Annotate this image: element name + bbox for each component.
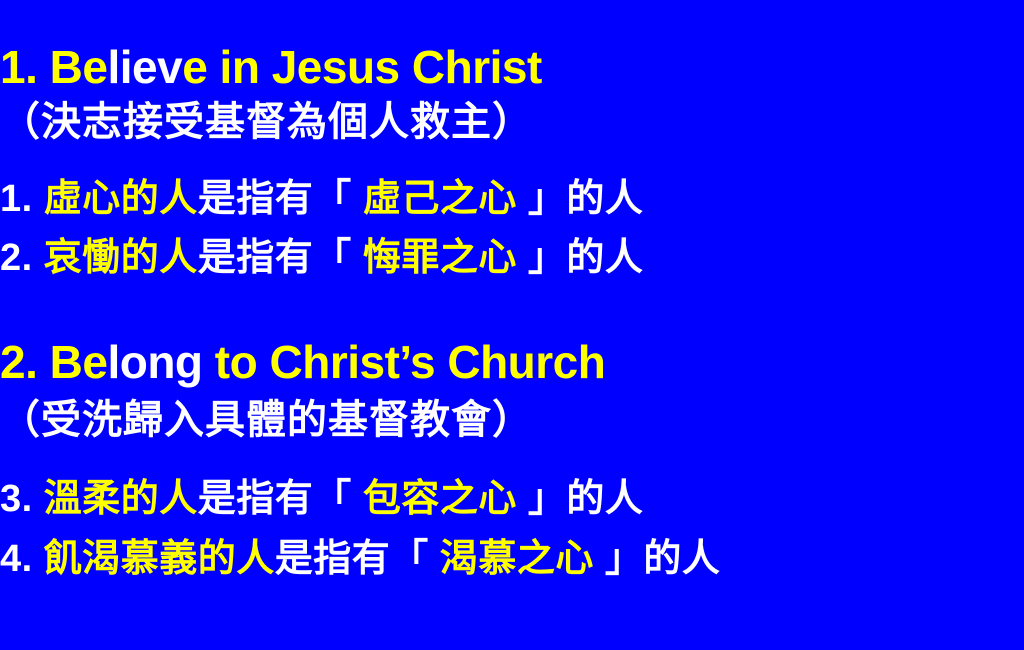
list-item: 4. 飢渴慕義的人是指有「 渴慕之心 」的人 bbox=[0, 540, 720, 578]
text-run: 」的人 bbox=[517, 237, 644, 279]
presentation-slide: 1. Believe in Jesus Christ （決志接受基督為個人救主）… bbox=[0, 0, 1024, 650]
text-run: 悔罪之心 bbox=[352, 237, 517, 279]
text-run: 」的人 bbox=[517, 478, 644, 520]
text-run: 3. bbox=[0, 478, 33, 520]
text-run: 2. bbox=[0, 237, 33, 279]
text-run: 1. bbox=[0, 178, 33, 220]
text-run: 飢渴慕義的人 bbox=[33, 538, 275, 580]
text-run: e in Jesus Christ bbox=[182, 41, 542, 93]
list-item: 1. 虛心的人是指有「 虛己之心 」的人 bbox=[0, 180, 643, 218]
text-run: 是指有「 bbox=[275, 538, 429, 580]
text-run: 包容之心 bbox=[352, 478, 517, 520]
text-run: 虛己之心 bbox=[352, 178, 517, 220]
text-run: 是指有「 bbox=[198, 478, 352, 520]
text-run: 是指有「 bbox=[198, 237, 352, 279]
text-run: 」的人 bbox=[517, 178, 644, 220]
section-2-heading: 2. Belong to Christ’s Church bbox=[0, 339, 605, 385]
text-run: 2. Be bbox=[0, 336, 107, 388]
section-1-subtitle: （決志接受基督為個人救主） bbox=[0, 102, 533, 142]
text-run: long bbox=[107, 336, 202, 388]
text-run: 哀慟的人 bbox=[33, 237, 198, 279]
text-run: 4. bbox=[0, 538, 33, 580]
list-item: 3. 溫柔的人是指有「 包容之心 」的人 bbox=[0, 480, 643, 518]
text-run: 虛心的人 bbox=[33, 178, 198, 220]
section-1-heading: 1. Believe in Jesus Christ bbox=[0, 44, 542, 90]
text-run: 1. Be bbox=[0, 41, 107, 93]
text-run: to Christ’s Church bbox=[203, 336, 606, 388]
text-run: 溫柔的人 bbox=[33, 478, 198, 520]
section-2-subtitle: （受洗歸入具體的基督教會） bbox=[0, 400, 533, 440]
text-run: 是指有「 bbox=[198, 178, 352, 220]
text-run: 渴慕之心 bbox=[429, 538, 594, 580]
text-run: 」的人 bbox=[594, 538, 721, 580]
list-item: 2. 哀慟的人是指有「 悔罪之心 」的人 bbox=[0, 239, 643, 277]
text-run: liev bbox=[107, 41, 182, 93]
